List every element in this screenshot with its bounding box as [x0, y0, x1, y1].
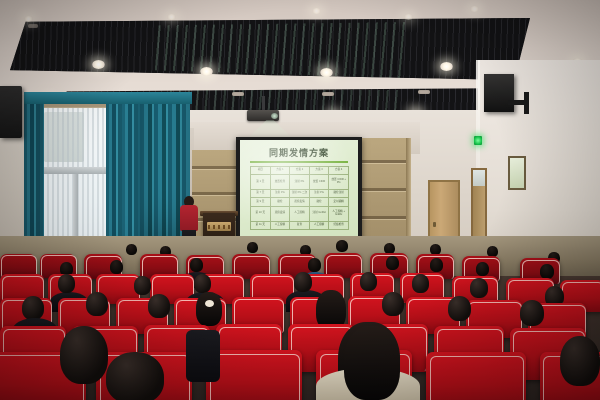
lecture-hall-photo: 同期发情方案 项目方案 1方案 2方案 3方案 4第 1 天放置栓剂注射 PG放… [0, 0, 600, 400]
slide-table-cell: 人工授精 + GnRH [329, 206, 349, 221]
slide-table-cell: 定时输精 [329, 198, 349, 206]
audience-head [540, 264, 554, 279]
audience-head [126, 244, 137, 255]
downlight [92, 60, 105, 69]
downlight [24, 16, 33, 22]
slide-table-cell: 妊娠检查 [329, 221, 349, 229]
slide-table: 项目方案 1方案 2方案 3方案 4第 1 天放置栓剂注射 PG放置 CIDR放… [250, 166, 349, 230]
speaker-bracket-plate [524, 92, 529, 114]
slide-table-cell: 第 7 天 [251, 190, 271, 198]
projection-screen: 同期发情方案 项目方案 1方案 2方案 3方案 4第 1 天放置栓剂注射 PG放… [240, 140, 358, 237]
downlight [167, 14, 176, 20]
podium-decoration [208, 225, 230, 229]
slide-table-header-cell: 方案 3 [309, 167, 329, 175]
wall-notice [510, 158, 524, 188]
slide-table-cell: 第 1 天 [251, 175, 271, 190]
presenter [180, 205, 198, 231]
audience-head [106, 352, 164, 400]
audience-head [308, 258, 321, 272]
slide-table-cell: 人工授精 [290, 206, 310, 221]
wall-speaker-left [0, 86, 22, 138]
wall-speaker-right [484, 74, 514, 112]
downlight [404, 14, 413, 20]
slide-table-cell: 撤栓注射 [329, 190, 349, 198]
audience-head [190, 258, 203, 272]
audience-head [148, 294, 170, 318]
hair-tie [205, 300, 214, 307]
slide-table-row: 第 10 天观察发情人工授精注射 GnRH人工授精 + GnRH [251, 206, 349, 221]
slide-table-cell: 第 10 天 [251, 206, 271, 221]
audience-head [520, 300, 544, 326]
exit-sign-icon [474, 136, 482, 145]
audience-head [360, 272, 377, 291]
window-mullion-horizontal [42, 167, 108, 174]
ceiling-vent [232, 92, 244, 96]
audience-head [560, 336, 600, 386]
coffer-reflection-front [150, 22, 410, 78]
audience-head [86, 292, 108, 316]
slide-table-cell: 注射 PG [290, 175, 310, 190]
downlight [312, 8, 321, 14]
audience-head [294, 272, 312, 292]
audience-head [60, 326, 108, 384]
audience-hair [196, 292, 222, 326]
slide-table-cell: 注射 GnRH [309, 206, 329, 221]
downlight [440, 62, 453, 71]
slide-table-cell: 放置 CIDR + PG [329, 175, 349, 190]
ceiling-vent [418, 90, 430, 94]
slide-table-cell: 观察发情 [270, 206, 290, 221]
slide-table-cell: 放置 CIDR [309, 175, 329, 190]
ceiling-vent [28, 24, 38, 28]
downlight [320, 68, 333, 77]
slide-table-row: 第 7 天注射 PG注射 PG 二次注射 PG撤栓注射 [251, 190, 349, 198]
slide-title: 同期发情方案 [240, 146, 358, 159]
audience-head [194, 274, 211, 293]
panel-trim [406, 138, 411, 250]
slide-table-cell: 注射 PG [309, 190, 329, 198]
door-transom-window [473, 170, 485, 186]
slide-table-header-cell: 方案 4 [329, 167, 349, 175]
audience-shoulders [186, 330, 220, 382]
audience-hair [344, 326, 400, 400]
seat[interactable] [426, 352, 526, 400]
downlight [200, 67, 213, 76]
stage-wood-panel-right [360, 138, 410, 250]
audience-head [448, 296, 471, 321]
audience-head [470, 278, 488, 298]
slide-table-cell: 撤栓 [270, 198, 290, 206]
audience-head [336, 240, 348, 252]
slide-table-cell: 人工授精 [309, 221, 329, 229]
audience-head [134, 276, 151, 295]
ceiling-vent [322, 92, 334, 96]
slide-table-cell: 第 11 天 [251, 221, 271, 229]
door-handle-icon[interactable] [433, 222, 436, 227]
projector-lens-icon [271, 113, 278, 119]
slide-table-cell: 第 9 天 [251, 198, 271, 206]
slide-table-header-cell: 项目 [251, 167, 271, 175]
slide-table-cell: 放置栓剂 [270, 175, 290, 190]
slide-divider [250, 161, 348, 163]
slide-table-cell: 撤栓 [309, 198, 329, 206]
audience-head [58, 274, 75, 293]
slide-table-cell: 注射 PG [270, 190, 290, 198]
slide-table-cell: 人工授精 [270, 221, 290, 229]
audience-head [382, 292, 404, 316]
audience-head [386, 256, 399, 270]
slide-table-row: 第 11 天人工授精复查人工授精妊娠检查 [251, 221, 349, 229]
slide-table-header-cell: 方案 1 [270, 167, 290, 175]
audience-head [247, 242, 258, 253]
slide-table-header-cell: 方案 2 [290, 167, 310, 175]
slide-table-cell: 观察发情 [290, 198, 310, 206]
slide-table-cell: 复查 [290, 221, 310, 229]
slide-table-row: 第 9 天撤栓观察发情撤栓定时输精 [251, 198, 349, 206]
curtain-rail [24, 92, 192, 104]
audience-head [412, 274, 429, 293]
audience-head [430, 258, 443, 272]
audience-head [476, 262, 489, 276]
slide-table-row: 第 1 天放置栓剂注射 PG放置 CIDR放置 CIDR + PG [251, 175, 349, 190]
downlight [470, 6, 479, 12]
audience-head [22, 296, 44, 320]
slide-table-cell: 注射 PG 二次 [290, 190, 310, 198]
slide-table-header-row: 项目方案 1方案 2方案 3方案 4 [251, 167, 349, 175]
audience-head [110, 260, 123, 274]
seat[interactable] [206, 350, 302, 400]
